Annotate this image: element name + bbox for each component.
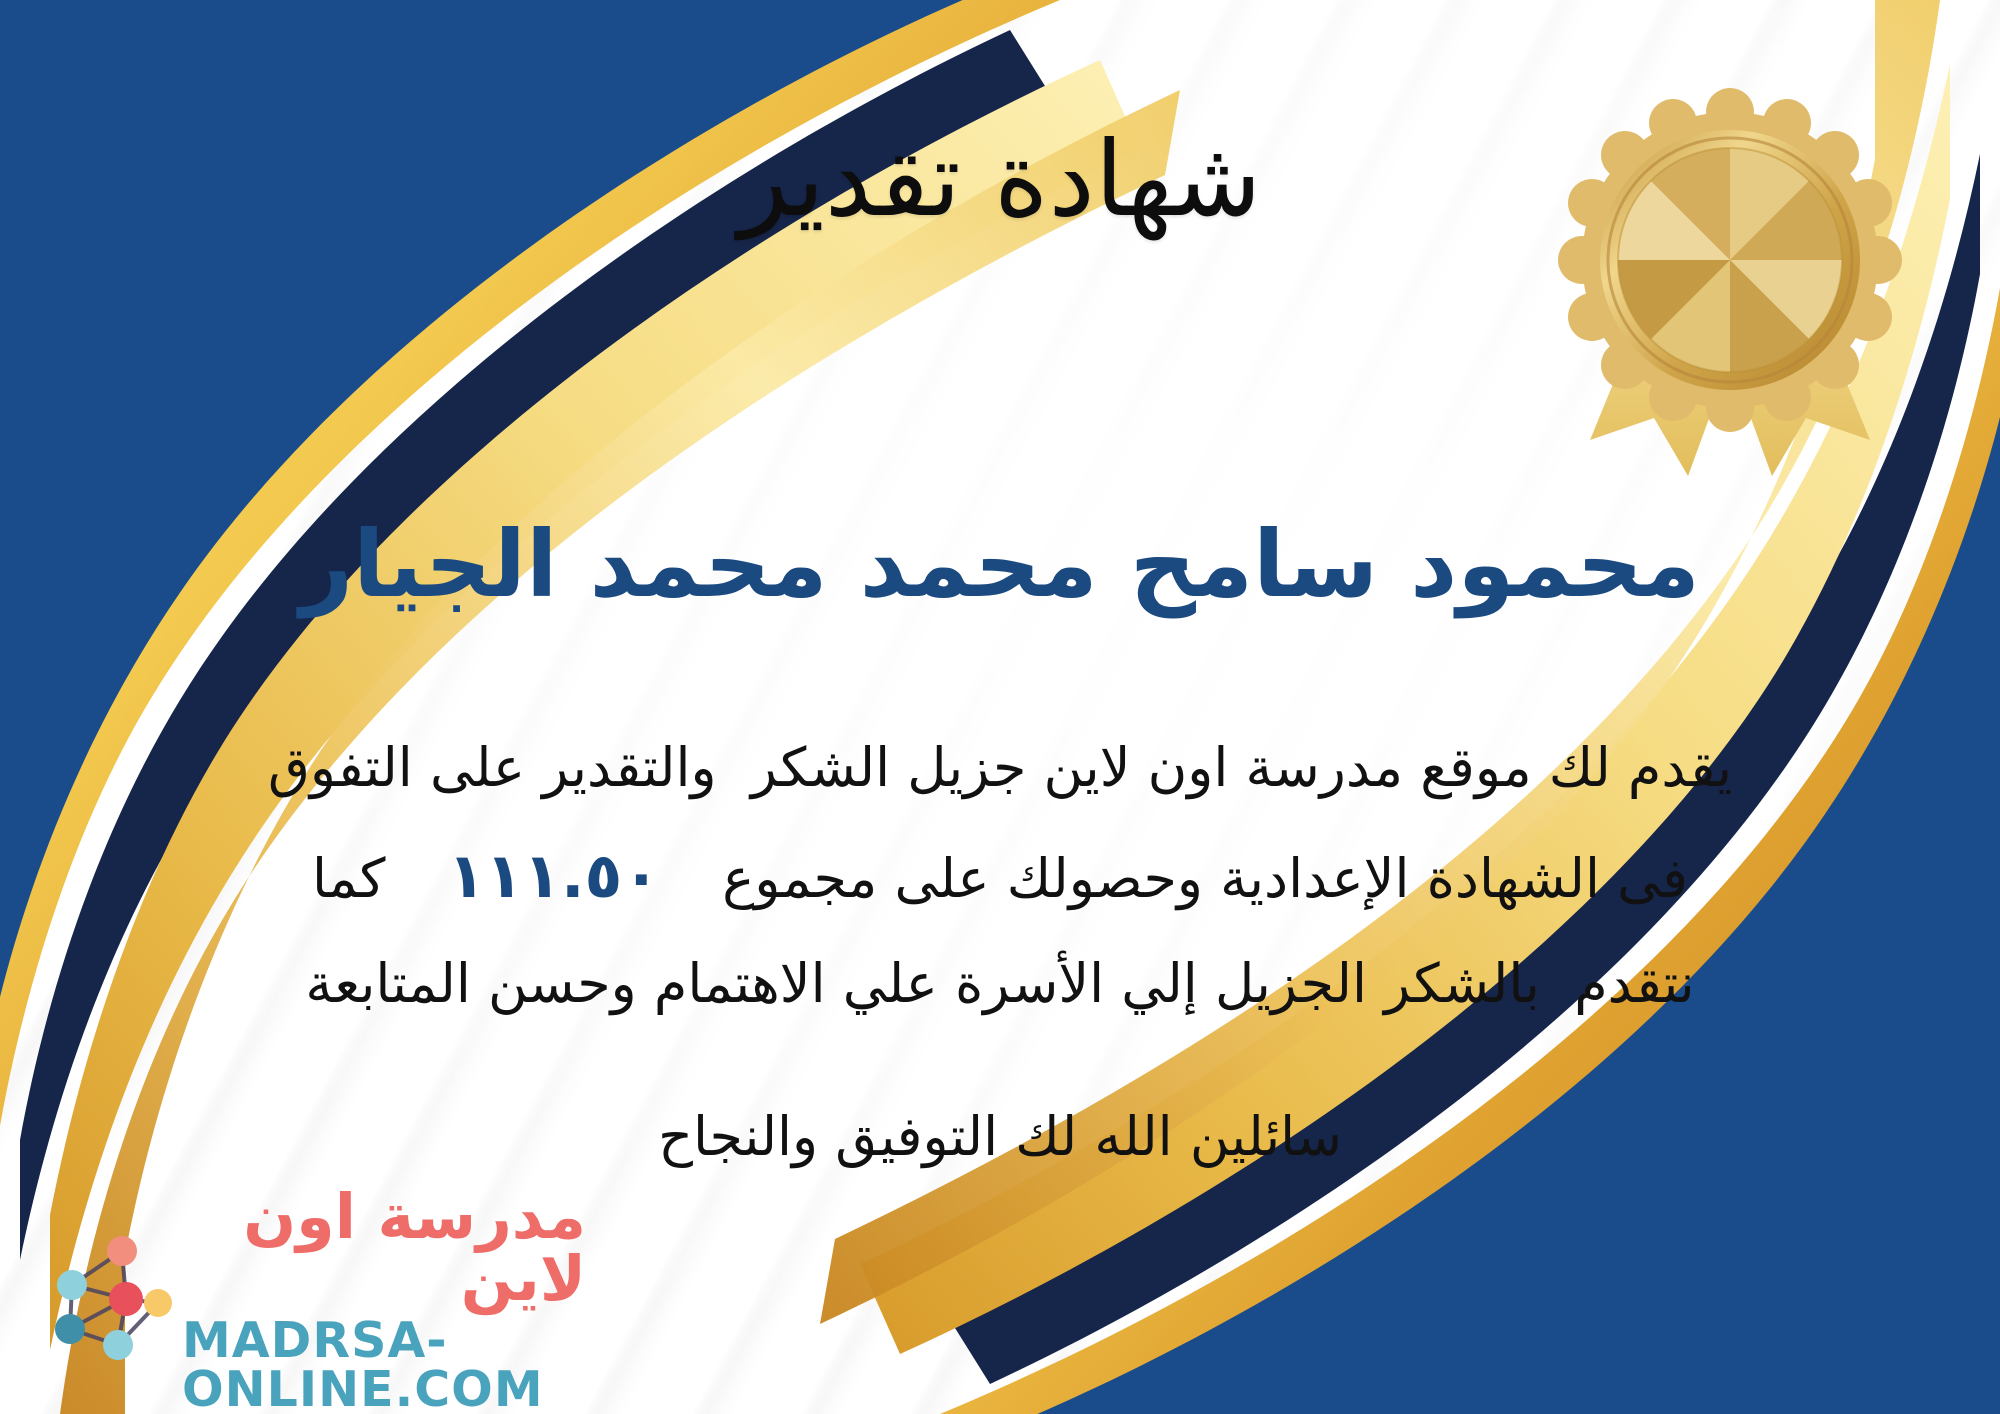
body-line-2-text: فى الشهادة الإعدادية وحصولك على مجموع (722, 847, 1688, 910)
body-line-3: نتقدم بالشكر الجزيل إلي الأسرة علي الاهت… (40, 934, 1960, 1034)
logo-text-group: مدرسة اون لاين MADRSA-ONLINE.COM (182, 1186, 586, 1414)
network-nodes-icon (26, 1225, 176, 1375)
closing-line: سائلين الله لك التوفيق والنجاح (0, 1105, 2000, 1168)
body-line-1: يقدم لك موقع مدرسة اون لاين جزيل الشكر و… (40, 718, 1960, 818)
logo-website: MADRSA-ONLINE.COM (182, 1316, 586, 1414)
score-value: ١١١.٥٠ (447, 839, 660, 912)
certificate-content: شهادة تقدير محمود سامح محمد محمد الجيار … (0, 0, 2000, 1414)
recipient-name: محمود سامح محمد محمد الجيار (0, 510, 2000, 620)
body-line-2-suffix: كما (312, 847, 385, 910)
body-line-2: فى الشهادة الإعدادية وحصولك على مجموع١١١… (40, 818, 1960, 933)
certificate-title: شهادة تقدير (0, 120, 2000, 240)
logo-arabic-name: مدرسة اون لاين (182, 1186, 586, 1310)
certificate-page: شهادة تقدير محمود سامح محمد محمد الجيار … (0, 0, 2000, 1414)
site-logo[interactable]: مدرسة اون لاين MADRSA-ONLINE.COM (26, 1210, 586, 1390)
certificate-body: يقدم لك موقع مدرسة اون لاين جزيل الشكر و… (40, 718, 1960, 1034)
